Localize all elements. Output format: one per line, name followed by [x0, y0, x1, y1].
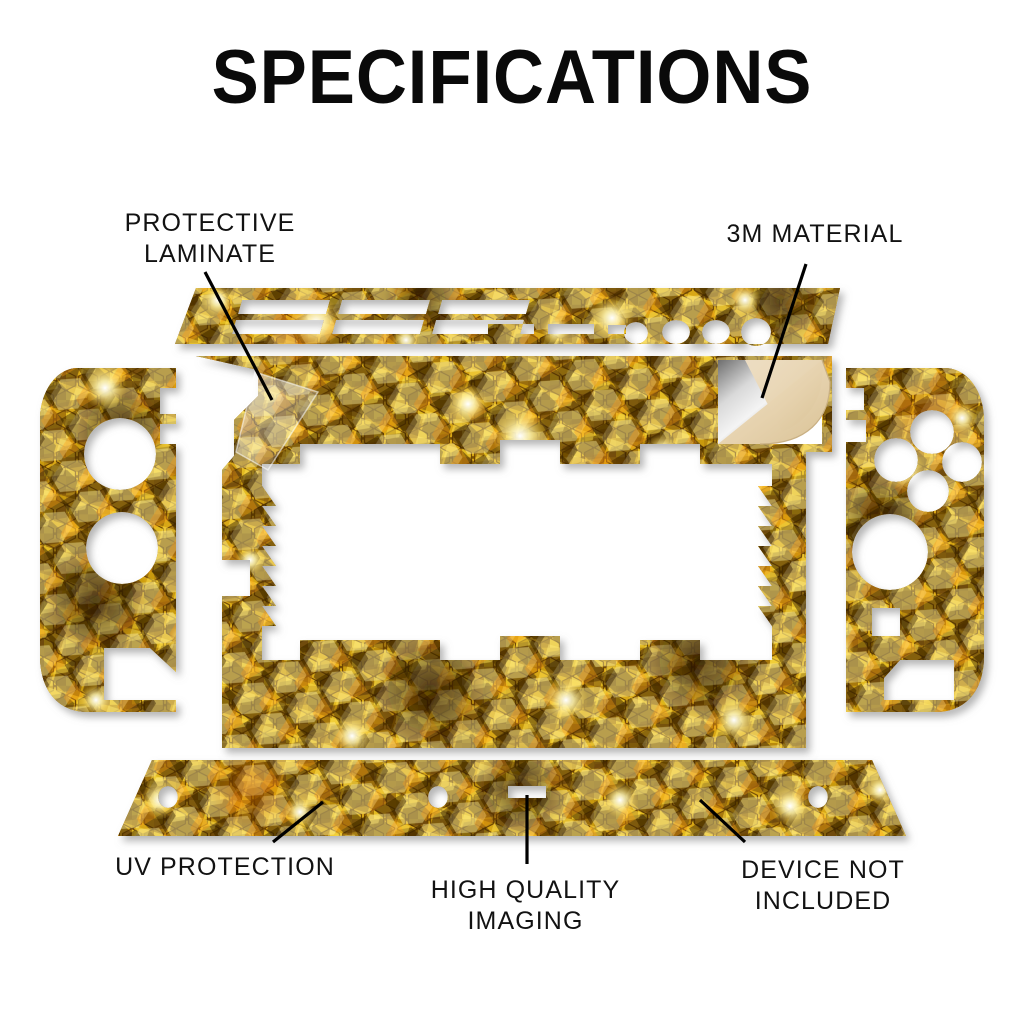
callout-label-uv-protection: UV PROTECTION — [35, 852, 415, 883]
callout-label-device-not-included: DEVICE NOT INCLUDED — [673, 855, 973, 916]
3m-material-peel-corner — [718, 360, 830, 444]
specifications-page: SPECIFICATIONS — [0, 0, 1024, 1024]
callout-label-protective-laminate: PROTECTIVE LAMINATE — [45, 208, 375, 269]
callout-label-high-quality-imaging: HIGH QUALITY IMAGING — [383, 875, 668, 936]
callout-label-3m-material: 3M MATERIAL — [655, 219, 975, 250]
